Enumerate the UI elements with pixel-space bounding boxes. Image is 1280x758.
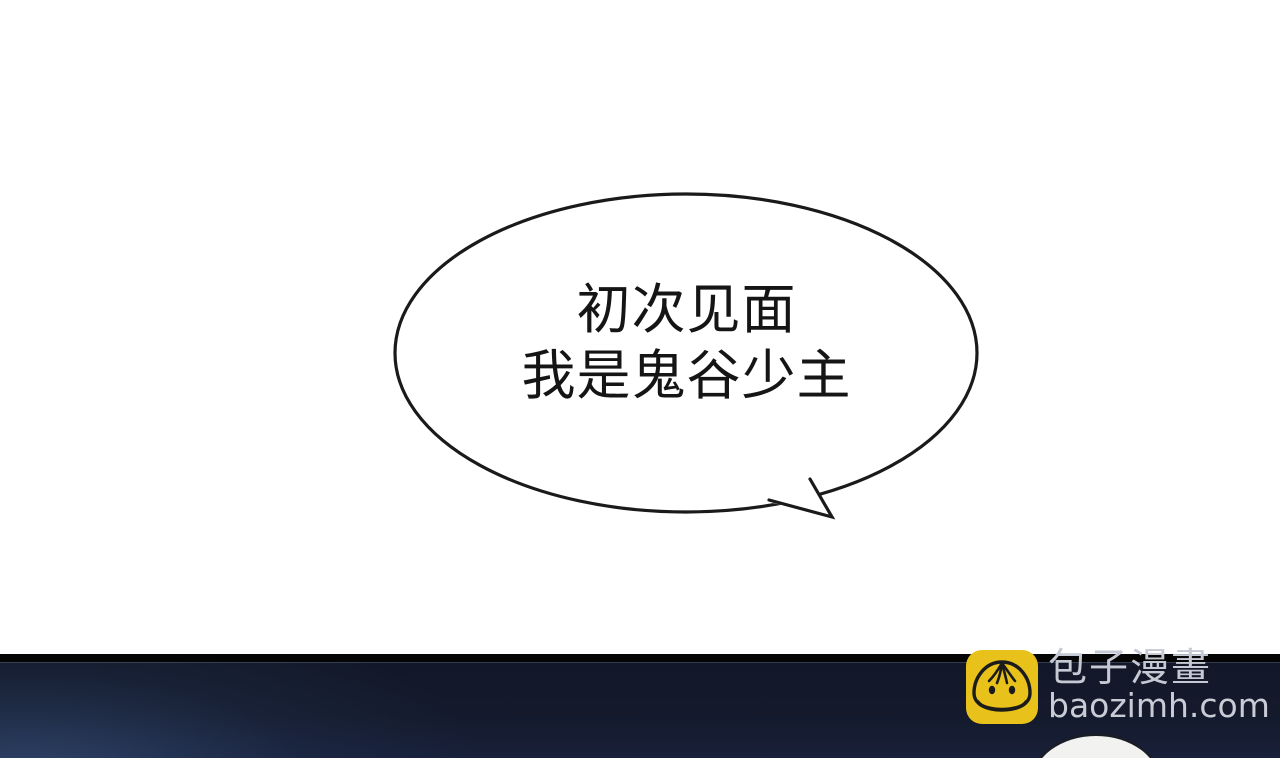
site-watermark[interactable]: 包子漫畫 baozimh.com (966, 649, 1270, 724)
dialogue-line-2: 我是鬼谷少主 (395, 343, 978, 409)
brand-name: 包子漫畫 (1048, 649, 1270, 688)
speech-bubble-text: 初次见面 我是鬼谷少主 (395, 277, 978, 409)
dialogue-line-1: 初次见面 (395, 277, 978, 343)
watermark-text: 包子漫畫 baozimh.com (1048, 649, 1270, 724)
comic-panel: 初次见面 我是鬼谷少主 (0, 0, 1280, 654)
site-url: baozimh.com (1048, 689, 1270, 722)
comic-page: 初次见面 我是鬼谷少主 (0, 0, 1280, 758)
baozi-bun-icon[interactable] (966, 650, 1038, 724)
baozi-bun-glyph (966, 650, 1038, 724)
